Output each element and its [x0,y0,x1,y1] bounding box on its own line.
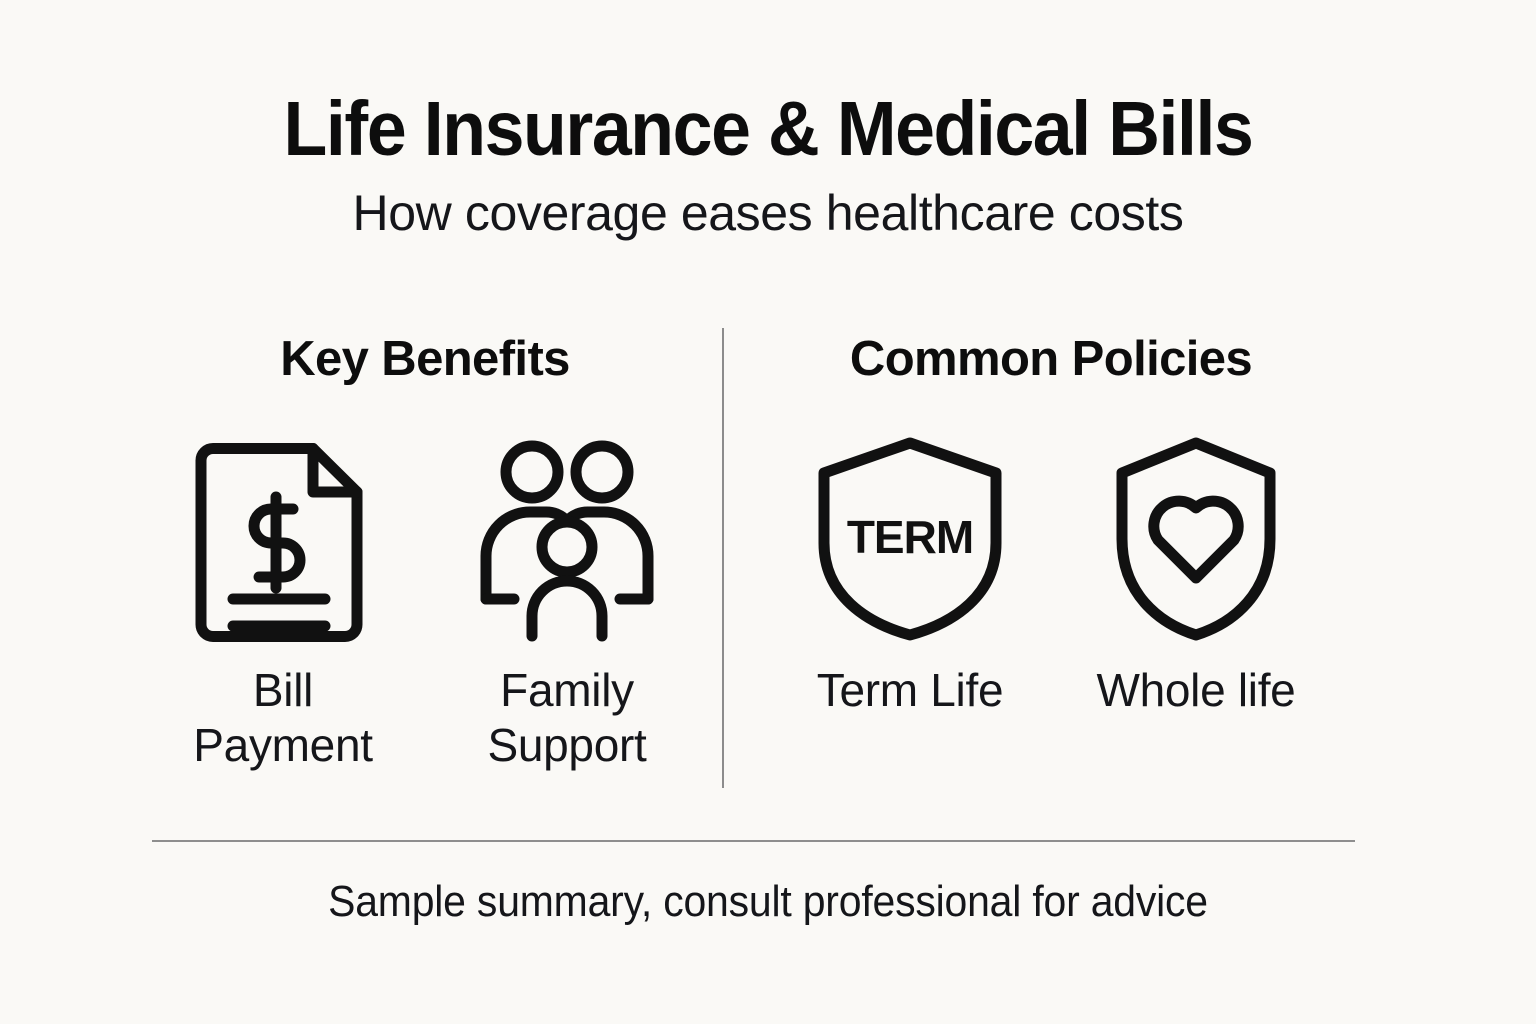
item-label-family-support: Family Support [467,663,667,773]
content-columns: Key Benefits [0,330,1536,800]
item-term-life[interactable]: TERM Term Life [810,436,1010,718]
item-label-bill-payment: Bill Payment [183,663,383,773]
bill-document-dollar-icon [197,436,369,641]
item-label-term-life: Term Life [817,663,1003,718]
family-support-icon-box [467,436,667,641]
item-whole-life[interactable]: Whole life [1096,436,1296,718]
shield-term-text: TERM [847,511,973,563]
footer-disclaimer: Sample summary, consult professional for… [54,875,1482,929]
item-label-whole-life: Whole life [1097,663,1296,718]
page-title: Life Insurance & Medical Bills [54,86,1482,172]
item-bill-payment[interactable]: Bill Payment [183,436,383,773]
page-subtitle: How coverage eases healthcare costs [0,184,1536,242]
footer: Sample summary, consult professional for… [0,875,1536,929]
shield-term-icon: TERM [810,435,1010,643]
column-common-policies: Common Policies TERM Term Life [760,330,1356,800]
bill-payment-icon-box [183,436,383,641]
column-key-benefits: Key Benefits [152,330,712,800]
common-policies-items: TERM Term Life Whole life [760,436,1356,718]
whole-life-icon-box [1096,436,1296,641]
term-life-icon-box: TERM [810,436,1010,641]
vertical-divider [722,328,724,788]
horizontal-divider [152,840,1355,842]
key-benefits-items: Bill Payment [152,436,712,773]
shield-heart-icon [1110,435,1282,643]
column-heading-common-policies: Common Policies [760,330,1356,388]
item-family-support[interactable]: Family Support [467,436,667,773]
header: Life Insurance & Medical Bills How cover… [0,86,1536,242]
column-heading-key-benefits: Key Benefits [152,330,712,388]
family-group-icon [474,439,660,639]
infographic-canvas: Life Insurance & Medical Bills How cover… [0,0,1536,1024]
